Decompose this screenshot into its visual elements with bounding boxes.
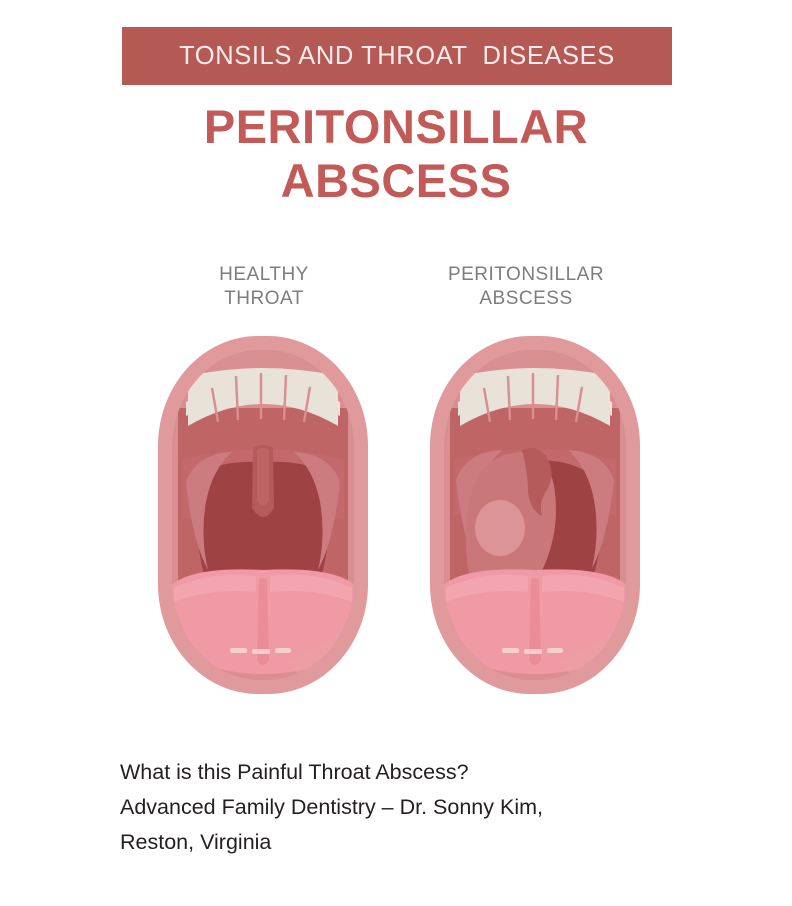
healthy-throat-figure xyxy=(152,330,374,705)
page-title-line-1: PERITONSILLAR xyxy=(0,100,792,154)
figure-label-healthy-throat-line-2: THROAT xyxy=(134,287,394,311)
infographic-page: TONSILS AND THROAT DISEASES PERITONSILLA… xyxy=(0,0,792,906)
uvula-highlight xyxy=(257,448,269,506)
figure-label-peritonsillar-abscess: PERITONSILLAR ABSCESS xyxy=(396,263,656,311)
page-title: PERITONSILLAR ABSCESS xyxy=(0,100,792,208)
figure-label-peritonsillar-abscess-line-2: ABSCESS xyxy=(396,287,656,311)
healthy-throat-svg xyxy=(152,330,374,700)
abscess-highlight xyxy=(475,500,525,556)
category-banner-text: TONSILS AND THROAT DISEASES xyxy=(179,42,615,71)
figure-labels: HEALTHY THROAT PERITONSILLAR ABSCESS xyxy=(0,263,792,323)
caption-block: What is this Painful Throat Abscess? Adv… xyxy=(120,755,720,860)
caption-line-1: What is this Painful Throat Abscess? xyxy=(120,755,720,790)
caption-line-2: Advanced Family Dentistry – Dr. Sonny Ki… xyxy=(120,790,720,825)
category-banner: TONSILS AND THROAT DISEASES xyxy=(122,27,672,85)
peritonsillar-abscess-svg xyxy=(424,330,646,700)
figure-label-healthy-throat: HEALTHY THROAT xyxy=(134,263,394,311)
figure-label-peritonsillar-abscess-line-1: PERITONSILLAR xyxy=(396,263,656,287)
caption-line-3: Reston, Virginia xyxy=(120,825,720,860)
page-title-line-2: ABSCESS xyxy=(0,154,792,208)
figure-label-healthy-throat-line-1: HEALTHY xyxy=(134,263,394,287)
peritonsillar-abscess-figure xyxy=(424,330,646,705)
illustrations xyxy=(0,330,792,700)
